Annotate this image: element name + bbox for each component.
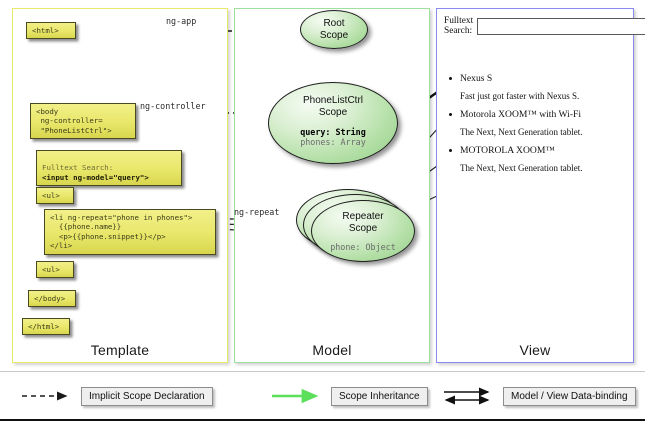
template-box-ul-open: <ul> (36, 187, 74, 204)
diagram-stage: Template Model View <html> <body ng-cont… (0, 0, 645, 425)
list-item[interactable]: Motorola XOOM™ with Wi-Fi The Next, Next… (444, 108, 628, 138)
column-template-label: Template (13, 342, 227, 358)
legend-item-scope-inheritance: Scope Inheritance (270, 382, 428, 410)
phone-snippet: The Next, Next Generation tablet. (444, 162, 628, 174)
ctrl-scope-prop-phones: phones: Array (300, 137, 366, 147)
repeater-scope-title-1: Repeater (312, 211, 414, 223)
template-box-body-close: </body> (28, 290, 76, 307)
root-scope-title-1: Root (301, 18, 367, 30)
phone-name: MOTOROLA XOOM™ (444, 144, 628, 157)
ellipse-root-scope: Root Scope (300, 10, 368, 49)
label-ng-repeat: ng-repeat (234, 207, 279, 217)
double-arrow-icon (442, 385, 498, 407)
view-search-label: Fulltext Search: (444, 16, 473, 36)
repeater-scope-title-2: Scope (312, 223, 414, 235)
template-box-fulltext-search: Fulltext Search: <input ng-model="query"… (36, 150, 182, 186)
legend-item-model-view-data-binding: Model / View Data-binding (442, 382, 636, 410)
dashed-arrow-icon (20, 385, 76, 407)
repeater-scope-prop-phone: phone: Object (330, 242, 396, 252)
root-scope-title-2: Scope (301, 30, 367, 42)
template-box-body-tag: <body ng-controller= "PhoneListCtrl"> (30, 103, 136, 139)
legend-label-implicit-scope-declaration: Implicit Scope Declaration (81, 387, 213, 406)
column-view-label: View (437, 342, 633, 358)
phone-name: Motorola XOOM™ with Wi-Fi (444, 108, 628, 121)
legend-label-scope-inheritance: Scope Inheritance (331, 387, 428, 406)
view-search-row: Fulltext Search: (444, 16, 628, 36)
view-search-input[interactable] (477, 18, 645, 35)
phone-snippet: The Next, Next Generation tablet. (444, 126, 628, 138)
ctrl-scope-prop-query: query: String (300, 127, 366, 137)
label-ng-controller: ng-controller (140, 101, 206, 111)
legend-divider-top (0, 371, 645, 372)
phone-snippet: Fast just got faster with Nexus S. (444, 90, 628, 102)
legend: Implicit Scope Declaration Scope Inherit… (12, 382, 634, 412)
green-arrow-icon (270, 385, 326, 407)
template-box-html-close: </html> (22, 318, 70, 335)
column-model: Model (234, 8, 430, 363)
legend-label-model-view-data-binding: Model / View Data-binding (503, 387, 636, 406)
list-item[interactable]: Nexus S Fast just got faster with Nexus … (444, 72, 628, 102)
legend-item-implicit-scope-declaration: Implicit Scope Declaration (20, 382, 213, 410)
view-phone-list: Nexus S Fast just got faster with Nexus … (444, 72, 628, 174)
legend-divider-bottom (0, 419, 645, 421)
column-model-label: Model (235, 342, 429, 358)
template-box-li-ng-repeat: <li ng-repeat="phone in phones"> {{phone… (44, 209, 216, 255)
ellipse-phonelistctrl-scope: PhoneListCtrl Scope query: String phones… (268, 82, 398, 164)
ellipse-repeater-scope: Repeater Scope phone: Object (311, 200, 415, 262)
view-panel: Fulltext Search: Nexus S Fast just got f… (444, 16, 628, 180)
template-box-ul-close: <ul> (36, 261, 74, 278)
fulltext-input-line: <input ng-model="query"> (42, 173, 149, 182)
phone-name: Nexus S (444, 72, 628, 85)
list-item[interactable]: MOTOROLA XOOM™ The Next, Next Generation… (444, 144, 628, 174)
label-ng-app: ng-app (166, 16, 196, 26)
template-box-html-open: <html> (26, 22, 76, 39)
ctrl-scope-title-1: PhoneListCtrl (269, 95, 397, 107)
ctrl-scope-title-2: Scope (269, 107, 397, 119)
fulltext-label-line: Fulltext Search: (42, 163, 113, 172)
